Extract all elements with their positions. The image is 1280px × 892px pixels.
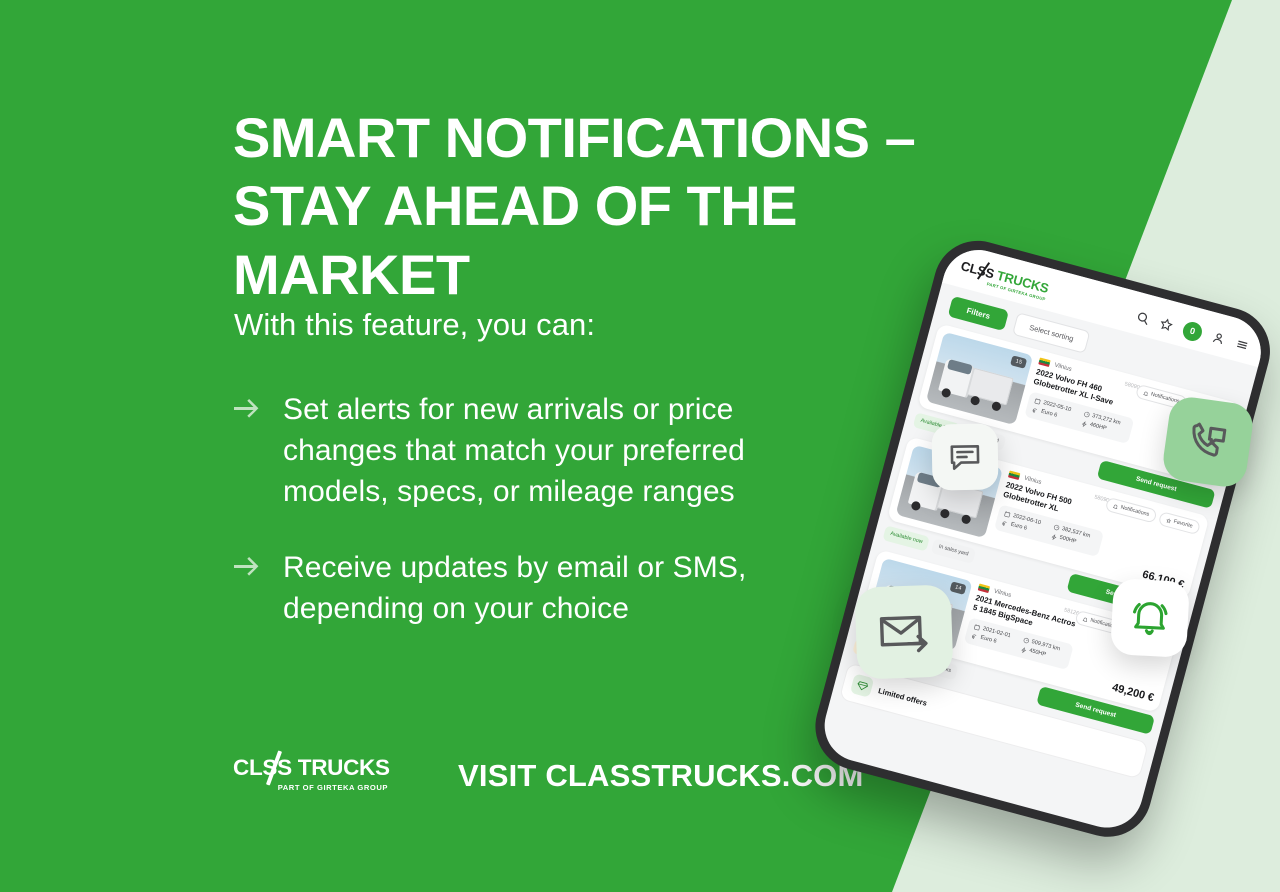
brand-logo: CLSS TRUCKS PART OF GIRTEKA GROUP [233, 757, 388, 791]
menu-icon[interactable] [1234, 336, 1251, 352]
listing-location: Vilnius [993, 588, 1012, 598]
listing-info: Vilnius 580901 2022 Volvo FH 460 Globetr… [1021, 357, 1143, 454]
listing-info: Vilnius 580902 2022 Volvo FH 500 Globetr… [991, 470, 1113, 567]
flag-icon [1038, 357, 1050, 367]
flag-icon [978, 583, 990, 593]
arrow-right-icon [234, 557, 264, 577]
phone-message-icon [1181, 415, 1235, 469]
brand-logo-tagline: PART OF GIRTEKA GROUP [233, 784, 388, 792]
list-item: Set alerts for new arrivals or price cha… [234, 390, 854, 512]
search-icon[interactable] [1135, 310, 1151, 326]
listing-photo[interactable]: 15 [926, 332, 1034, 425]
phone-message-tile [1161, 395, 1256, 490]
listing-location: Vilnius [1024, 475, 1043, 485]
headline-line-1: SMART NOTIFICATIONS – [233, 106, 915, 169]
brand-logo-part1: CL [233, 755, 262, 780]
brand-logo-part2: SS TRUCKS [262, 755, 389, 780]
star-icon[interactable] [1159, 316, 1175, 332]
alarm-bell-icon [1128, 596, 1172, 640]
cart-badge[interactable]: 0 [1181, 319, 1204, 342]
truck-illustration [936, 354, 1015, 415]
arrow-right-icon [234, 399, 264, 419]
bullet-list: Set alerts for new arrivals or price cha… [234, 390, 854, 666]
listing-location: Vilnius [1054, 362, 1073, 372]
lede-text: With this feature, you can: [234, 306, 595, 343]
alarm-bell-tile [1110, 578, 1190, 658]
listing-price: 49,200 € [1111, 682, 1155, 705]
user-icon[interactable] [1211, 330, 1227, 346]
status-badge: Available now [883, 526, 930, 552]
favorite-chip[interactable]: Favorite [1158, 511, 1201, 535]
photo-count-badge: 15 [1011, 355, 1028, 368]
photo-count-badge: 14 [950, 581, 967, 594]
diamond-icon [850, 673, 874, 697]
bullet-text: Receive updates by email or SMS, dependi… [283, 548, 854, 630]
poster-canvas: SMART NOTIFICATIONS – STAY AHEAD OF THE … [0, 0, 1280, 892]
chat-bubble-tile [931, 423, 998, 490]
brand-logo-wordmark: CLSS TRUCKS [233, 757, 388, 780]
notifications-chip[interactable]: Notifications [1105, 497, 1158, 524]
headline-line-2: STAY AHEAD OF THE MARKET [233, 172, 1033, 309]
email-send-tile [854, 584, 953, 679]
listing-chip-row: Notifications Favorite [1105, 497, 1201, 535]
status-badge: In sales yard [931, 539, 976, 564]
page-title: SMART NOTIFICATIONS – STAY AHEAD OF THE … [233, 104, 1033, 309]
listing-actions: Notifications Favorite 66,100 € [1101, 500, 1201, 591]
listing-info: Vilnius 581263 2021 Mercedes-Benz Actros… [961, 583, 1083, 680]
list-item: Receive updates by email or SMS, dependi… [234, 548, 854, 630]
email-send-icon [876, 609, 932, 655]
flag-icon [1008, 470, 1020, 480]
filters-button[interactable]: Filters [948, 296, 1009, 331]
bullet-text: Set alerts for new arrivals or price cha… [283, 390, 854, 512]
chat-bubble-icon [947, 439, 984, 476]
limited-offers-label: Limited offers [877, 686, 928, 708]
